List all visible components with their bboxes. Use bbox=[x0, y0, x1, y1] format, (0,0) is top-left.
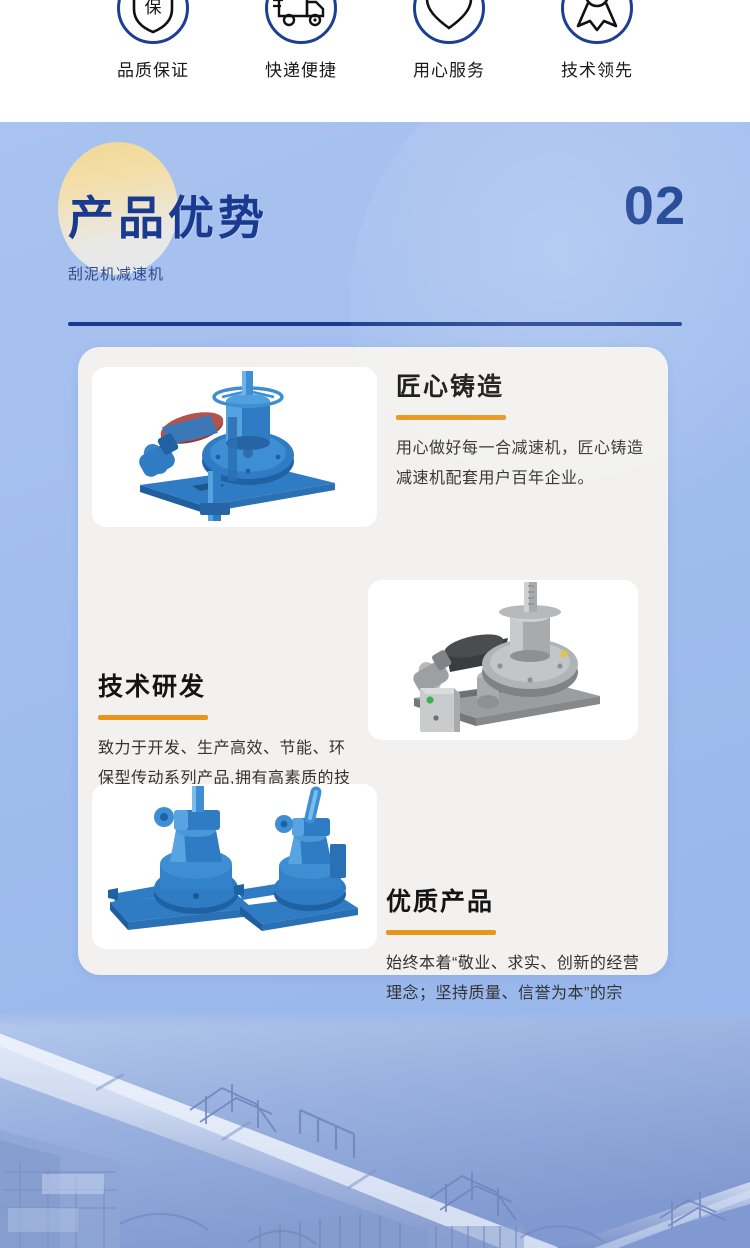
title-accent-bar bbox=[98, 715, 208, 720]
block-body: 用心做好每一合减速机，匠心铸造减速机配套用户百年企业。 bbox=[396, 434, 654, 494]
block-body: 始终本着“敬业、求实、创新的经营理念；坚持质量、信誉为本”的宗旨，为广大用户提供… bbox=[386, 949, 654, 1012]
block-title: 匠心铸造 bbox=[396, 367, 654, 403]
service-item-label: 品质保证 bbox=[117, 56, 189, 81]
advantage-block-quality-product: 优质产品 始终本着“敬业、求实、创新的经营理念；坚持质量、信誉为本”的宗旨，为广… bbox=[386, 882, 654, 1012]
shield-quality-icon: 保 bbox=[117, 0, 189, 44]
advantage-card: 匠心铸造 用心做好每一合减速机，匠心铸造减速机配套用户百年企业。 bbox=[78, 347, 668, 975]
section-divider bbox=[68, 322, 682, 326]
service-item-label: 快递便捷 bbox=[265, 56, 337, 81]
product-photo-blue-gearbox[interactable] bbox=[92, 367, 377, 527]
service-item-delivery[interactable]: 快递便捷 bbox=[227, 0, 375, 81]
section-subtitle: 刮泥机减速机 bbox=[68, 263, 164, 284]
product-advantage-section: 产品优势 02 刮泥机减速机 bbox=[0, 122, 750, 1012]
service-item-care[interactable]: 用心服务 bbox=[375, 0, 523, 81]
section-number: 02 bbox=[624, 175, 686, 237]
service-item-label: 用心服务 bbox=[413, 56, 485, 81]
service-item-quality[interactable]: 保 品质保证 bbox=[79, 0, 227, 81]
industrial-pipes-banner bbox=[0, 1012, 750, 1248]
title-accent-bar bbox=[396, 415, 506, 420]
section-header: 产品优势 02 刮泥机减速机 bbox=[0, 122, 750, 332]
delivery-truck-icon bbox=[265, 0, 337, 44]
service-guarantee-bar: 保 品质保证 快递便捷 用心服务 bbox=[0, 0, 750, 122]
block-title: 技术研发 bbox=[98, 667, 360, 703]
medal-ribbon-icon bbox=[561, 0, 633, 44]
product-photo-blue-pair[interactable] bbox=[92, 784, 377, 949]
advantage-block-craftsmanship: 匠心铸造 用心做好每一合减速机，匠心铸造减速机配套用户百年企业。 bbox=[396, 367, 654, 494]
service-item-label: 技术领先 bbox=[561, 56, 633, 81]
block-title: 优质产品 bbox=[386, 882, 654, 918]
section-title: 产品优势 bbox=[68, 182, 268, 248]
product-photo-grey-gearbox[interactable] bbox=[368, 580, 638, 740]
service-item-technology[interactable]: 技术领先 bbox=[523, 0, 671, 81]
title-accent-bar bbox=[386, 930, 496, 935]
heart-service-icon bbox=[413, 0, 485, 44]
svg-text:保: 保 bbox=[145, 0, 162, 18]
